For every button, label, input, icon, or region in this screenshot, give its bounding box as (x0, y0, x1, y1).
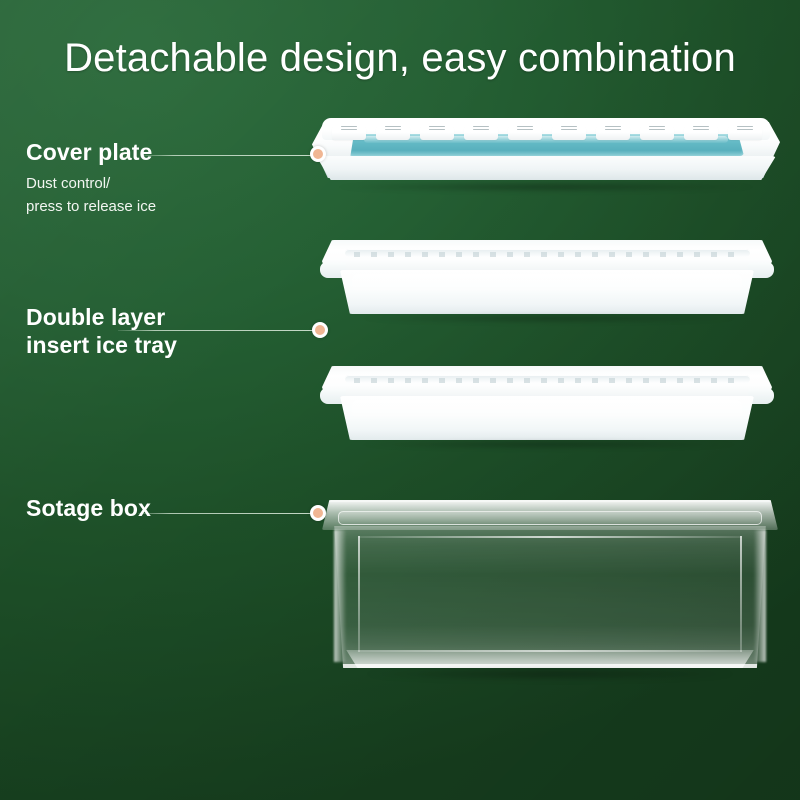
callout-subtitle-line-1: Dust control/ (26, 173, 156, 195)
ice-tray-shadow (362, 314, 736, 323)
product-part-ice-tray-upper (322, 240, 772, 320)
storage-box-inner-top-edge (358, 536, 742, 538)
press-button (376, 120, 410, 140)
press-button (552, 120, 586, 140)
callout-title-line-1: Double layer (26, 303, 177, 331)
press-button (596, 120, 630, 140)
storage-box-shadow (366, 668, 734, 680)
callout-title: Cover plate (26, 138, 156, 166)
press-button (640, 120, 674, 140)
leader-line-storage-box (138, 513, 320, 514)
ice-tray-shadow (362, 440, 736, 449)
cover-plate-press-buttons (332, 120, 762, 142)
ice-tray-body (340, 270, 754, 314)
cover-plate-skirt (316, 156, 776, 180)
storage-box-highlight-left (334, 530, 346, 662)
press-button (464, 120, 498, 140)
callout-cover-plate: Cover plate Dust control/ press to relea… (26, 138, 156, 218)
connector-dot-ice-tray (312, 322, 328, 338)
cover-plate-shadow (338, 182, 754, 192)
press-button (684, 120, 718, 140)
ice-tray-body-gloss (352, 274, 741, 292)
ice-tray-body-gloss (352, 400, 741, 418)
connector-dot-storage-box (310, 505, 326, 521)
product-part-cover-plate (312, 108, 780, 190)
callout-insert-ice-tray: Double layer insert ice tray (26, 303, 177, 359)
product-infographic: Detachable design, easy combination (0, 0, 800, 800)
press-button (420, 120, 454, 140)
leader-line-cover-plate (142, 155, 320, 156)
product-part-ice-tray-lower (322, 366, 772, 446)
ice-tray-body (340, 396, 754, 440)
press-button (728, 120, 762, 140)
callout-title: Sotage box (26, 494, 151, 522)
connector-dot-cover-plate (310, 146, 326, 162)
press-button (332, 120, 366, 140)
press-button (508, 120, 542, 140)
storage-box-floor (336, 650, 764, 668)
page-title: Detachable design, easy combination (0, 36, 800, 81)
storage-box-inner-left-edge (358, 536, 360, 652)
ice-tray-lid (322, 240, 772, 274)
callout-storage-box: Sotage box (26, 494, 151, 522)
callout-title-line-2: insert ice tray (26, 331, 177, 359)
storage-box-rim (322, 500, 778, 530)
callout-subtitle-line-2: press to release ice (26, 196, 156, 218)
ice-tray-lid-texture (349, 378, 745, 383)
ice-tray-lid (322, 366, 772, 400)
storage-box-rim-inner (338, 511, 762, 525)
storage-box-inner-right-edge (740, 536, 742, 652)
storage-box-walls (328, 526, 772, 668)
storage-box-highlight-right (754, 530, 766, 662)
product-part-storage-box (322, 500, 778, 680)
ice-tray-lid-texture (349, 252, 745, 257)
